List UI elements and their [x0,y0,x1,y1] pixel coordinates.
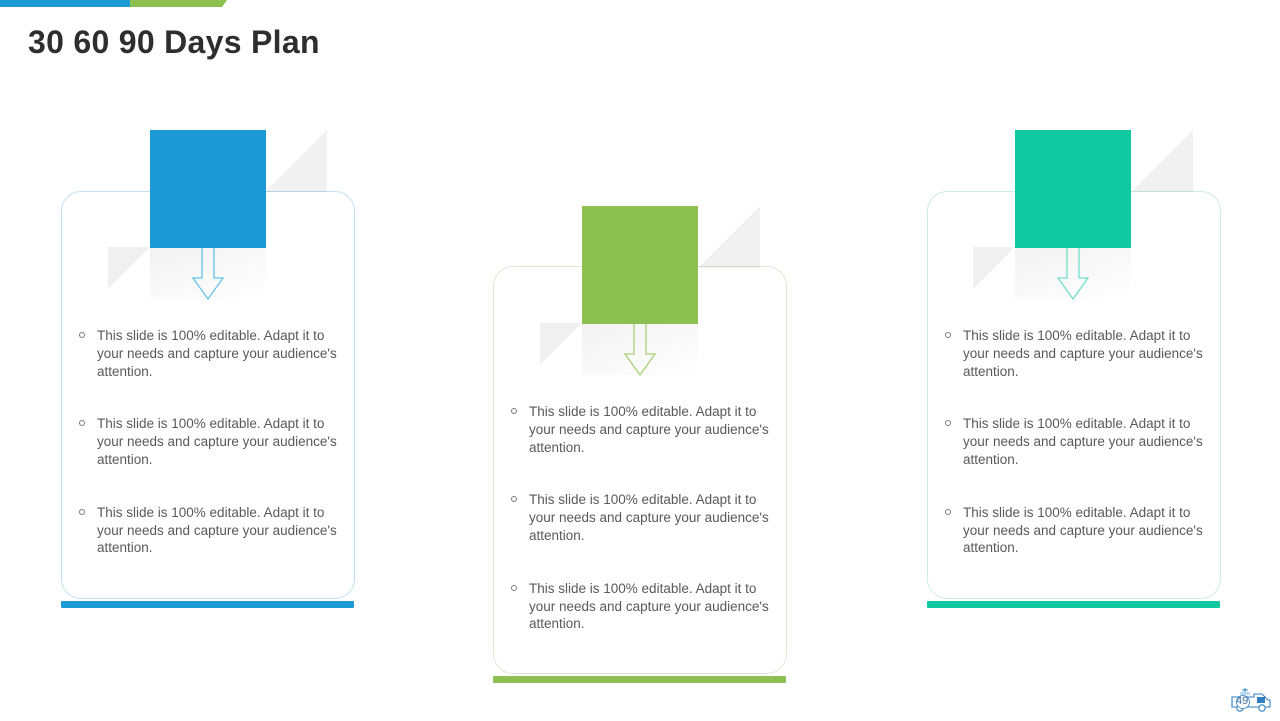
badge-shadow-top-right-30 [265,130,327,192]
list-item: This slide is 100% editable. Adapt it to… [62,504,352,557]
bullet-text: This slide is 100% editable. Adapt it to… [529,581,769,632]
bullet-text: This slide is 100% editable. Adapt it to… [529,492,769,543]
bullet-dot-icon [79,420,85,426]
bullet-dot-icon [511,496,517,502]
list-item: This slide is 100% editable. Adapt it to… [928,504,1218,557]
list-item: This slide is 100% editable. Adapt it to… [494,403,784,456]
card-bar-60-days [493,676,786,683]
bullet-list-90: This slide is 100% editable. Adapt it to… [928,327,1218,557]
page-badge-number: 49 [1236,695,1248,707]
list-item: This slide is 100% editable. Adapt it to… [62,415,352,468]
bullet-dot-icon [511,408,517,414]
badge-fill-30 [150,130,266,248]
bullet-dot-icon [945,420,951,426]
bullet-dot-icon [79,332,85,338]
badge-shadow-top-right-90 [1131,130,1193,192]
bullet-dot-icon [945,332,951,338]
bullet-dot-icon [79,509,85,515]
bullet-text: This slide is 100% editable. Adapt it to… [529,404,769,455]
badge-shadow-top-right-60 [698,206,760,268]
badge-30-days[interactable]: 30 Days [150,130,266,248]
badge-fill-60 [582,206,698,324]
bullet-list-30: This slide is 100% editable. Adapt it to… [62,327,352,557]
badge-90-days[interactable]: 90 Days [1015,130,1131,248]
bullet-text: This slide is 100% editable. Adapt it to… [963,328,1203,379]
page-title: 30 60 90 Days Plan [28,24,320,61]
bullet-text: This slide is 100% editable. Adapt it to… [97,328,337,379]
list-item: This slide is 100% editable. Adapt it to… [62,327,352,380]
bullet-text: This slide is 100% editable. Adapt it to… [97,505,337,556]
page-badge[interactable]: 49 [1228,686,1274,716]
bullet-text: This slide is 100% editable. Adapt it to… [963,416,1203,467]
list-item: This slide is 100% editable. Adapt it to… [494,580,784,633]
bullet-text: This slide is 100% editable. Adapt it to… [963,505,1203,556]
list-item: This slide is 100% editable. Adapt it to… [928,415,1218,468]
card-bar-90-days [927,601,1220,608]
list-item: This slide is 100% editable. Adapt it to… [494,491,784,544]
bullet-dot-icon [945,509,951,515]
top-accent-blue-segment [0,0,132,7]
top-accent-bar [0,0,1280,7]
list-item: This slide is 100% editable. Adapt it to… [928,327,1218,380]
bullet-list-60: This slide is 100% editable. Adapt it to… [494,403,784,633]
top-accent-green-segment [130,0,222,7]
badge-fill-90 [1015,130,1131,248]
card-bar-30-days [61,601,354,608]
bullet-text: This slide is 100% editable. Adapt it to… [97,416,337,467]
bullet-dot-icon [511,585,517,591]
badge-60-days[interactable]: 60 Days [582,206,698,324]
ambulance-icon [1228,686,1274,716]
